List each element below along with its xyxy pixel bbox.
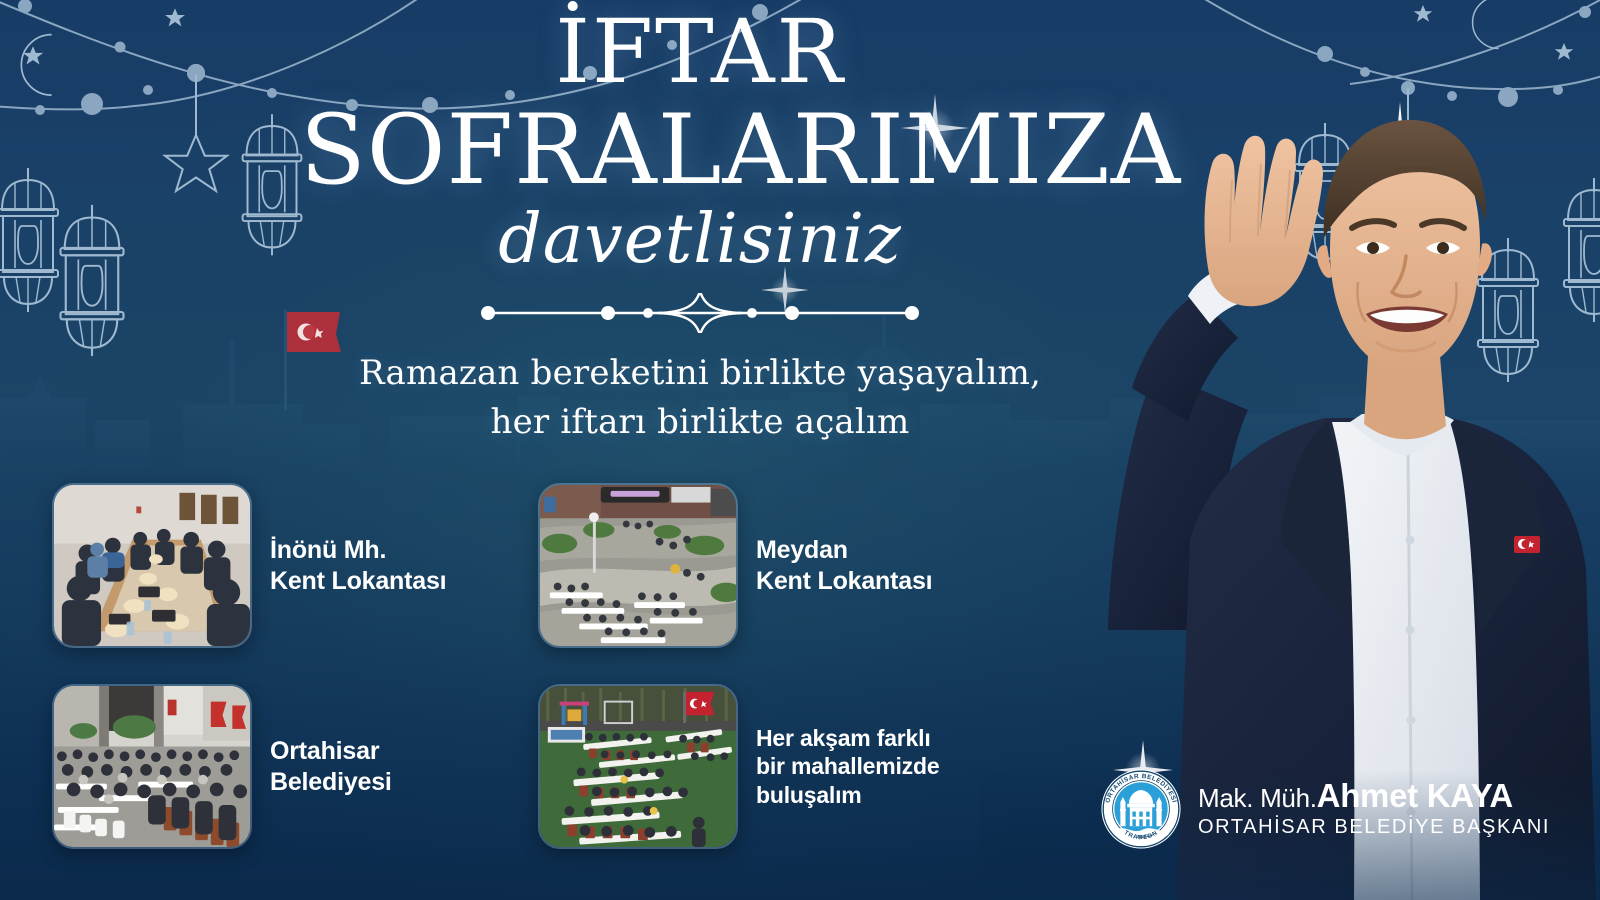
venue-card-label: İnönü Mh. Kent Lokantası <box>270 535 446 596</box>
card-row-1: İnönü Mh. Kent Lokantası <box>52 483 1002 648</box>
venue-card-label: Her akşam farklı bir mahallemizde buluşa… <box>756 724 939 808</box>
venue-card-label-line-1: Her akşam farklı <box>756 724 939 752</box>
street-iftar-crowd-photo <box>52 684 252 849</box>
tagline-line-1: Ramazan bereketini birlikte yaşayalım, <box>300 349 1100 397</box>
venue-card-label-line-2: Kent Lokantası <box>270 566 446 597</box>
tagline-line-2: her iftarı birlikte açalım <box>300 398 1100 446</box>
hand-wave <box>1205 136 1324 306</box>
logo-year: 2014 <box>1137 833 1147 838</box>
lantern-left-3 <box>243 114 302 255</box>
title-line-2: SOFRALARIMIZA <box>300 102 1100 200</box>
field-iftar-photo <box>538 684 738 849</box>
mayor-name-line: Mak. Müh.Ahmet KAYA <box>1198 779 1550 814</box>
star-small-right-2 <box>1555 43 1574 60</box>
star-small-left-1 <box>24 47 43 64</box>
venue-card-label-line-1: İnönü Mh. <box>270 535 446 566</box>
mayor-title-prefix: Mak. Müh. <box>1198 783 1317 813</box>
ortahisar-belediyesi-logo: ORTAHİSAR BELEDİYESİ TRABZON 2014 <box>1098 766 1184 852</box>
headline-block: İFTAR SOFRALARIMIZA davetlisiniz Ramazan… <box>300 8 1100 446</box>
signature-text: Mak. Müh.Ahmet KAYA ORTAHİSAR BELEDİYE B… <box>1198 779 1550 840</box>
mayor-role: ORTAHİSAR BELEDİYE BAŞKANI <box>1198 816 1550 839</box>
ornamental-divider <box>480 293 920 333</box>
venue-card[interactable]: Meydan Kent Lokantası <box>538 483 1002 648</box>
lantern-left-1 <box>0 168 58 312</box>
star-small-left-2 <box>165 8 185 26</box>
venue-cards: İnönü Mh. Kent Lokantası <box>52 483 1002 849</box>
crescent-moon-left <box>21 35 51 95</box>
venue-card-label-line-1: Ortahisar <box>270 736 392 767</box>
card-row-2: Ortahisar Belediyesi <box>52 684 1002 849</box>
title-script-line: davetlisiniz <box>300 204 1100 275</box>
venue-card-label-line-1: Meydan <box>756 535 932 566</box>
lantern-left-2 <box>61 205 124 356</box>
mayor-name: Ahmet KAYA <box>1317 777 1513 814</box>
venue-card-label: Meydan Kent Lokantası <box>756 535 932 596</box>
venue-card[interactable]: Her akşam farklı bir mahallemizde buluşa… <box>538 684 1002 849</box>
title-line-1: İFTAR <box>300 8 1100 96</box>
venue-card-label-line-2: bir mahallemizde <box>756 752 939 780</box>
town-square-iftar-photo <box>538 483 738 648</box>
venue-card-label-line-2: Belediyesi <box>270 767 392 798</box>
signature-block: ORTAHİSAR BELEDİYESİ TRABZON 2014 Mak. M… <box>1098 766 1550 852</box>
tagline-block: Ramazan bereketini birlikte yaşayalım, h… <box>300 349 1100 446</box>
venue-card-label-line-2: Kent Lokantası <box>756 566 932 597</box>
crescent-moon-right <box>1473 0 1499 49</box>
venue-card-label-line-3: buluşalım <box>756 781 939 809</box>
indoor-communal-dinner-photo <box>52 483 252 648</box>
poster-canvas: İFTAR SOFRALARIMIZA davetlisiniz Ramazan… <box>0 0 1600 900</box>
venue-card-label: Ortahisar Belediyesi <box>270 736 392 797</box>
venue-card[interactable]: İnönü Mh. Kent Lokantası <box>52 483 516 648</box>
head <box>1317 120 1492 370</box>
flag-lapel-pin <box>1514 536 1540 553</box>
venue-card[interactable]: Ortahisar Belediyesi <box>52 684 516 849</box>
star-hanging-left <box>165 75 227 191</box>
star-small-right-1 <box>1414 5 1433 22</box>
